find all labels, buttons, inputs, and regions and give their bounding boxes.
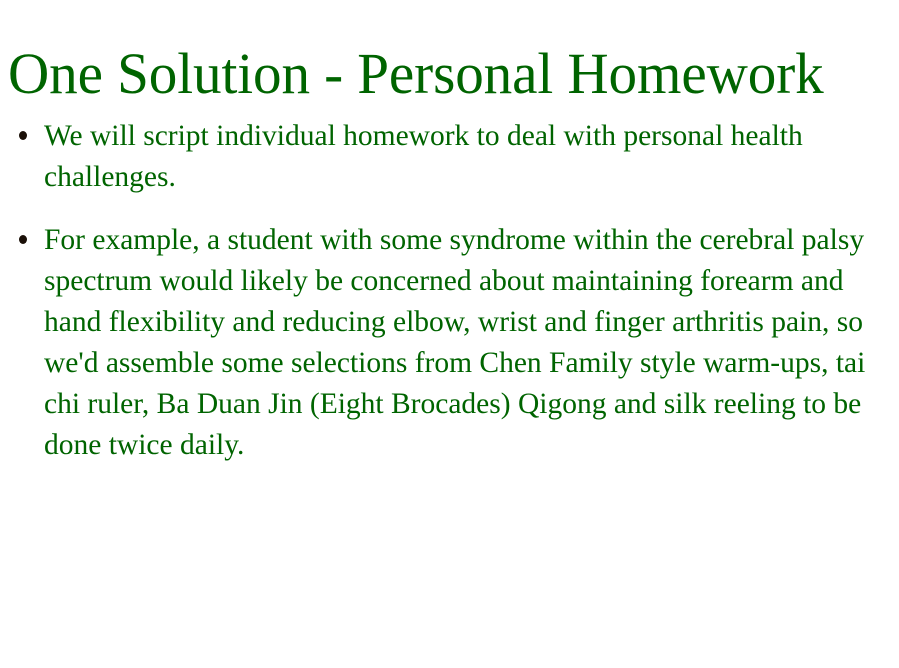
slide-title: One Solution - Personal Homework xyxy=(8,44,879,104)
bullet-dot-icon xyxy=(19,131,27,140)
bullet-dot-icon xyxy=(19,235,27,244)
bullet-item-text: For example, a student with some syndrom… xyxy=(44,220,885,466)
bullet-list-item: For example, a student with some syndrom… xyxy=(14,220,885,466)
bullet-item-text: We will script individual homework to de… xyxy=(44,116,885,198)
slide-body-content: We will script individual homework to de… xyxy=(14,116,885,466)
bullet-list-item: We will script individual homework to de… xyxy=(14,116,885,198)
presentation-slide: One Solution - Personal Homework We will… xyxy=(0,0,899,668)
